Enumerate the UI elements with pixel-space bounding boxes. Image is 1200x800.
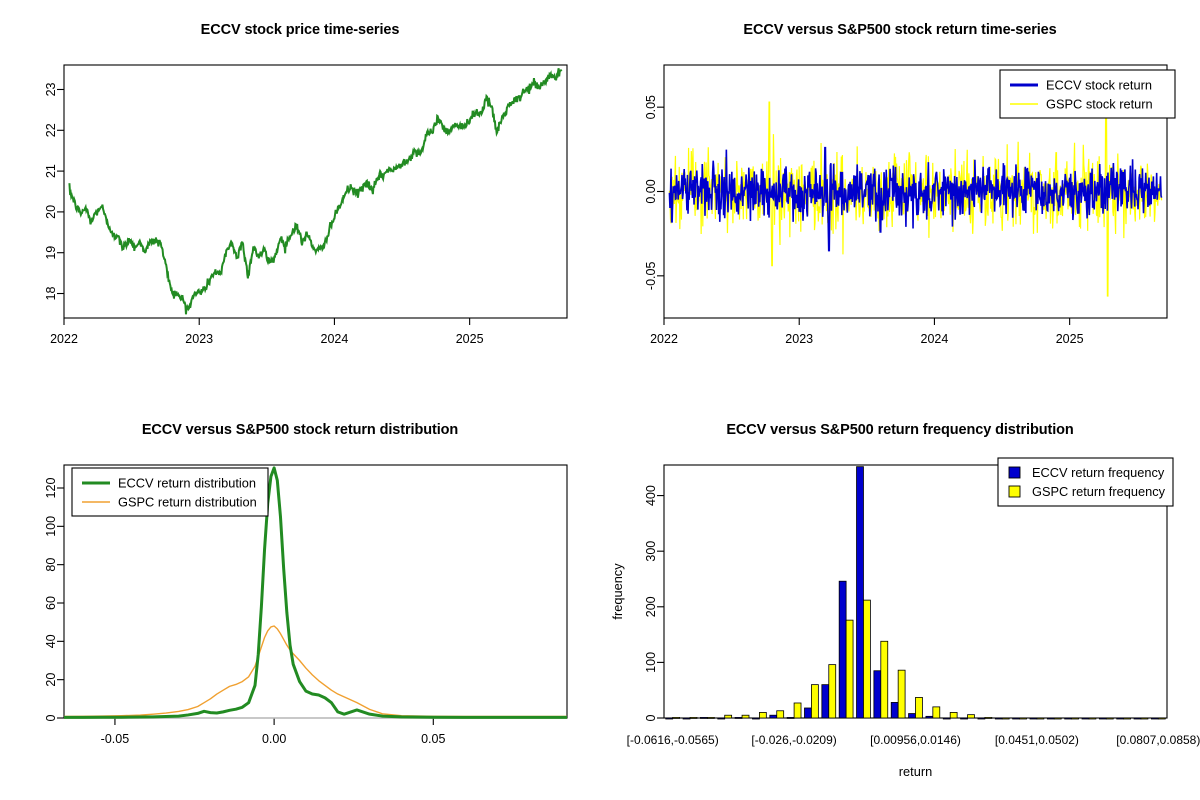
bar-gspc — [968, 715, 975, 718]
legend-label: GSPC return distribution — [118, 495, 257, 510]
bar-gspc — [1106, 718, 1113, 719]
bar-gspc — [881, 641, 888, 718]
legend-label: ECCV stock return — [1046, 78, 1152, 93]
bar-gspc — [1124, 718, 1131, 719]
y-tick-label: 21 — [44, 164, 58, 178]
bar-eccv — [700, 717, 707, 718]
bar-gspc — [725, 715, 732, 718]
x-tick-label: 2024 — [921, 332, 949, 346]
x-tick-label: 0.00 — [262, 732, 286, 746]
bar-eccv — [1013, 718, 1020, 719]
bar-eccv — [804, 708, 811, 718]
x-tick-label: 2025 — [456, 332, 484, 346]
bar-eccv — [874, 671, 881, 718]
bar-gspc — [690, 717, 697, 718]
x-tick-label: 2022 — [50, 332, 78, 346]
x-axis-label: return — [899, 764, 932, 779]
y-tick-label: 60 — [44, 596, 58, 610]
x-tick-label: 0.05 — [421, 732, 445, 746]
y-tick-label: 20 — [44, 673, 58, 687]
y-tick-label: 22 — [44, 123, 58, 137]
y-tick-label: 19 — [44, 246, 58, 260]
bar-gspc — [742, 715, 749, 718]
bar-gspc — [898, 670, 905, 718]
y-tick-label: 200 — [644, 596, 658, 617]
density-curve — [64, 626, 567, 716]
y-axis-label: frequency — [610, 563, 625, 620]
y-tick-label: 23 — [44, 82, 58, 96]
bar-gspc — [863, 600, 870, 718]
panel-return-distribution: ECCV versus S&P500 stock return distribu… — [0, 400, 600, 800]
bar-gspc — [1037, 718, 1044, 719]
y-tick-label: 0.05 — [644, 95, 658, 119]
y-tick-label: 400 — [644, 485, 658, 506]
bar-gspc — [759, 712, 766, 718]
x-tick-label: 2023 — [185, 332, 213, 346]
bar-gspc — [707, 717, 714, 718]
bar-gspc — [829, 665, 836, 718]
panel-price-timeseries: ECCV stock price time-series 18192021222… — [0, 0, 600, 400]
legend-swatch — [1009, 467, 1020, 478]
y-tick-label: 0 — [644, 714, 658, 721]
bar-eccv — [770, 715, 777, 718]
bar-gspc — [916, 697, 923, 718]
bar-eccv — [1134, 718, 1141, 719]
bar-eccv — [943, 718, 950, 719]
y-tick-label: 120 — [44, 478, 58, 499]
panel-return-frequency: ECCV versus S&P500 return frequency dist… — [600, 400, 1200, 800]
bar-eccv — [839, 581, 846, 718]
bar-gspc — [794, 703, 801, 718]
y-tick-label: 0.00 — [644, 179, 658, 203]
bar-eccv — [995, 718, 1002, 719]
bar-gspc — [811, 685, 818, 718]
bar-gspc — [1158, 718, 1165, 719]
x-tick-label: [0.00956,0.0146) — [870, 733, 961, 747]
y-tick-label: -0.05 — [644, 262, 658, 291]
bar-eccv — [1151, 718, 1158, 719]
x-tick-label: [-0.026,-0.0209) — [751, 733, 836, 747]
bar-eccv — [1117, 718, 1124, 719]
bar-eccv — [1030, 718, 1037, 719]
y-tick-label: 80 — [44, 558, 58, 572]
bar-gspc — [950, 712, 957, 718]
legend-label: GSPC return frequency — [1032, 484, 1166, 499]
y-tick-label: 300 — [644, 541, 658, 562]
bar-gspc — [1020, 718, 1027, 719]
bar-eccv — [752, 718, 759, 719]
bar-gspc — [933, 707, 940, 718]
bar-eccv — [926, 716, 933, 718]
legend-label: ECCV return distribution — [118, 476, 256, 491]
bar-eccv — [787, 717, 794, 718]
x-tick-label: [0.0451,0.0502) — [995, 733, 1079, 747]
bar-eccv — [891, 702, 898, 718]
bar-gspc — [985, 717, 992, 718]
price-line — [69, 68, 561, 314]
bar-gspc — [1089, 718, 1096, 719]
y-tick-label: 100 — [644, 652, 658, 673]
y-tick-label: 0 — [44, 714, 58, 721]
y-tick-label: 20 — [44, 205, 58, 219]
bar-eccv — [822, 685, 829, 718]
y-tick-label: 100 — [44, 516, 58, 537]
legend-swatch — [1009, 486, 1020, 497]
x-tick-label: [0.0807,0.0858) — [1116, 733, 1200, 747]
bar-gspc — [1141, 718, 1148, 719]
figure-canvas: ECCV stock price time-series 18192021222… — [0, 0, 1200, 800]
bar-eccv — [1099, 718, 1106, 719]
x-tick-label: [-0.0616,-0.0565) — [627, 733, 719, 747]
x-tick-label: -0.05 — [101, 732, 130, 746]
x-tick-label: 2023 — [785, 332, 813, 346]
bar-eccv — [718, 718, 725, 719]
bar-eccv — [909, 714, 916, 718]
bar-gspc — [1054, 718, 1061, 719]
bar-gspc — [1072, 718, 1079, 719]
legend-label: GSPC stock return — [1046, 97, 1153, 112]
x-tick-label: 2025 — [1056, 332, 1084, 346]
return-distribution-plot: 020406080100120-0.050.000.05ECCV return … — [0, 400, 600, 800]
bar-eccv — [857, 467, 864, 718]
x-tick-label: 2024 — [321, 332, 349, 346]
bar-gspc — [777, 711, 784, 718]
bar-eccv — [978, 718, 985, 719]
bar-eccv — [961, 718, 968, 719]
bar-eccv — [683, 718, 690, 719]
return-timeseries-plot: -0.050.000.052022202320242025ECCV stock … — [600, 0, 1200, 400]
bar-eccv — [1047, 718, 1054, 719]
bar-eccv — [735, 717, 742, 718]
bar-gspc — [1002, 718, 1009, 719]
legend-label: ECCV return frequency — [1032, 465, 1165, 480]
y-tick-label: 18 — [44, 287, 58, 301]
price-timeseries-plot: 1819202122232022202320242025 — [0, 0, 600, 400]
bar-eccv — [1065, 718, 1072, 719]
bar-eccv — [666, 718, 673, 719]
y-tick-label: 40 — [44, 634, 58, 648]
panel-return-timeseries: ECCV versus S&P500 stock return time-ser… — [600, 0, 1200, 400]
return-frequency-plot: 0100200300400[-0.0616,-0.0565)[-0.026,-0… — [600, 400, 1200, 800]
bar-gspc — [846, 620, 853, 718]
x-tick-label: 2022 — [650, 332, 678, 346]
plot-frame — [64, 65, 567, 318]
bar-gspc — [673, 717, 680, 718]
bar-eccv — [1082, 718, 1089, 719]
